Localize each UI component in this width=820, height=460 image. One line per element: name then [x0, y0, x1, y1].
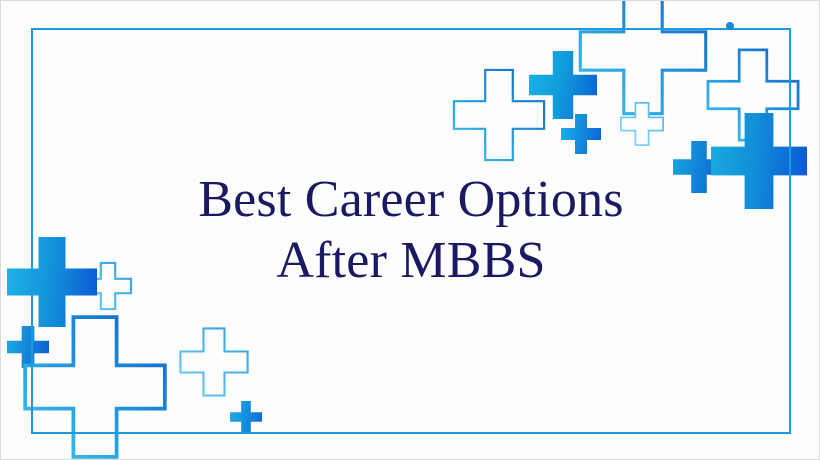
cross-outline-medium-bottom [179, 327, 249, 397]
page-title-line-1: Best Career Options [1, 169, 820, 230]
cross-outline-large-top [579, 0, 707, 115]
cross-outline-large-bottom [23, 315, 167, 459]
page-title: Best Career Options After MBBS [1, 169, 820, 292]
cross-outline-tiny-top [620, 102, 664, 146]
cross-filled-small-top [561, 114, 601, 154]
page-title-line-2: After MBBS [1, 230, 820, 291]
slide-canvas: Best Career Options After MBBS [0, 0, 820, 460]
frame-accent-dot [726, 22, 734, 30]
cross-filled-tiny-bottom [230, 401, 262, 433]
